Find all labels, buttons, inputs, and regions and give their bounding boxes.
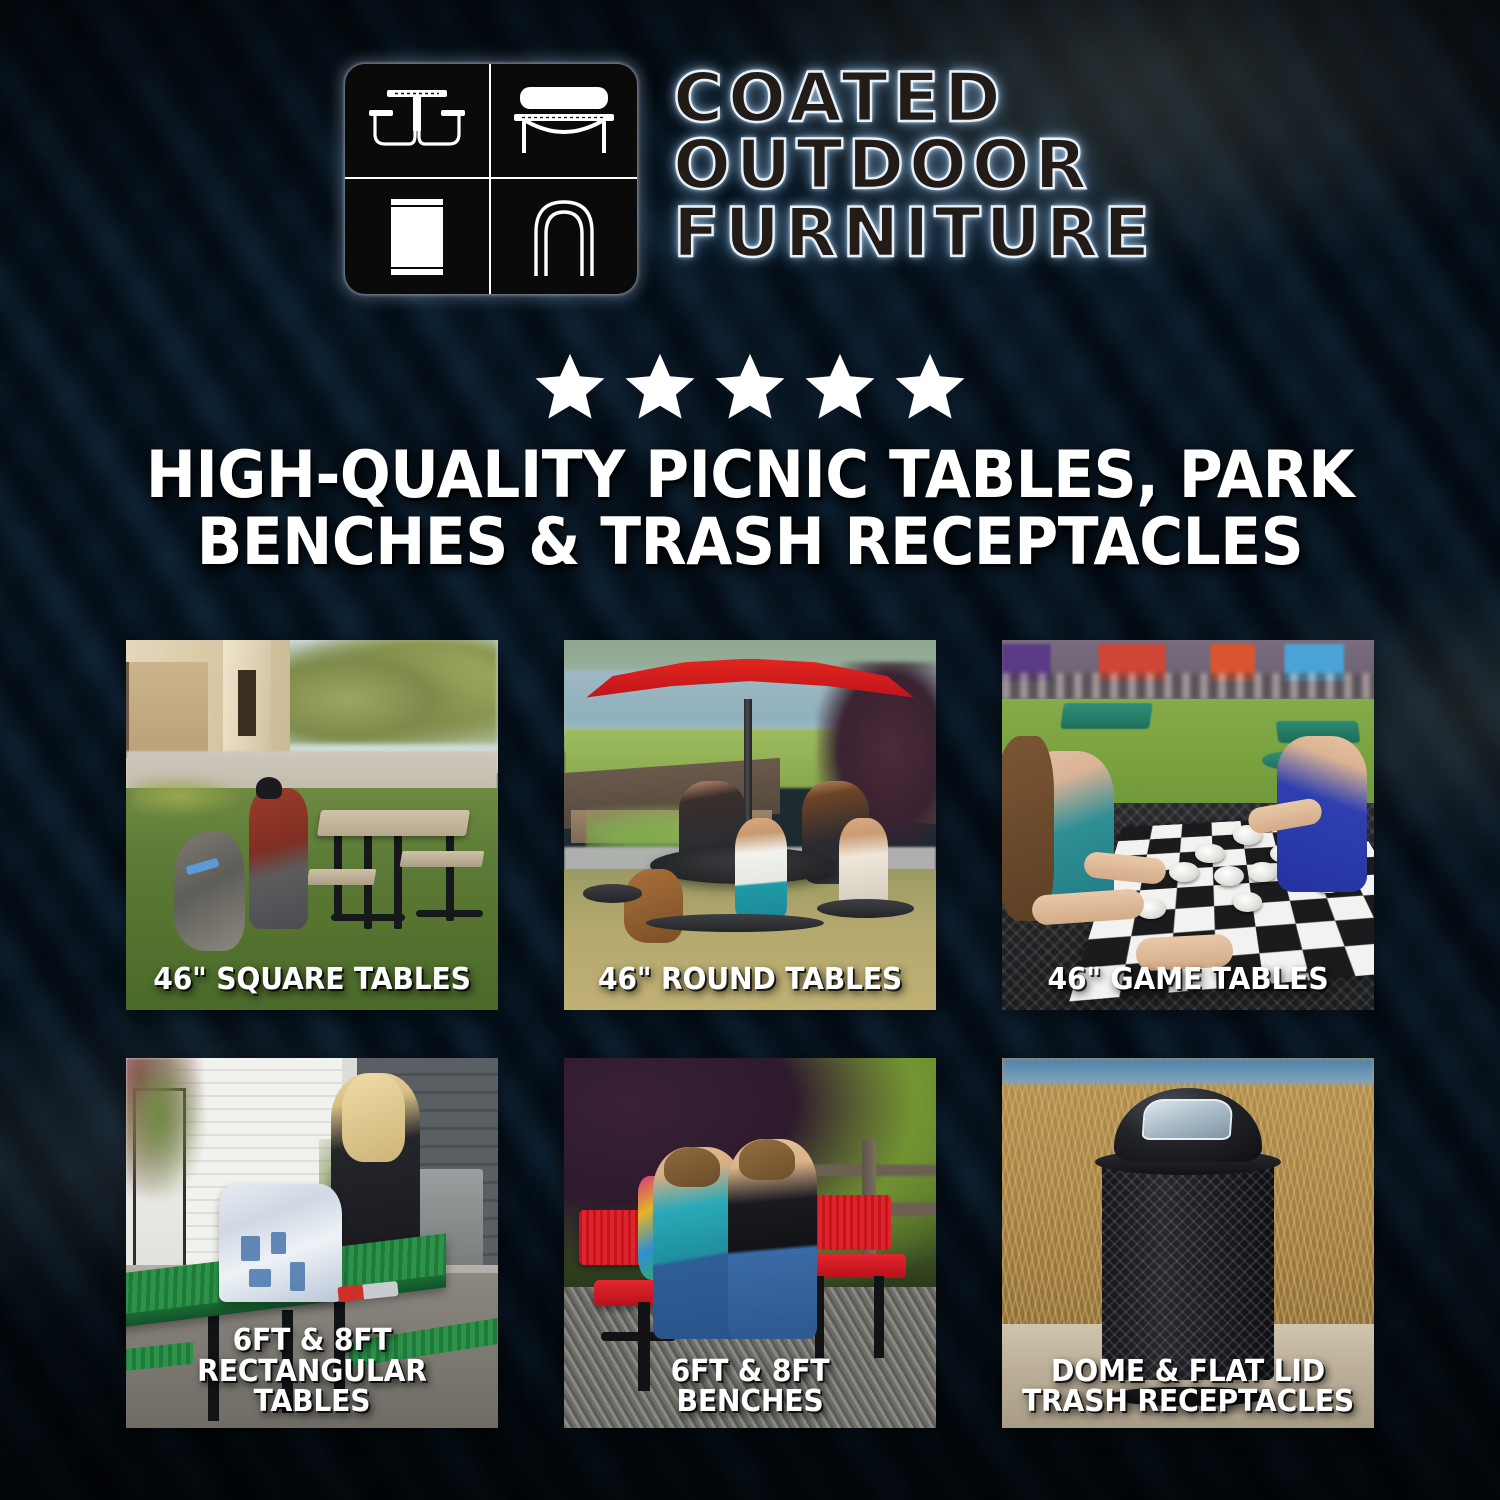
product-tile-rectangular-tables[interactable]: 6FT & 8FT RECTANGULAR TABLES (126, 1058, 498, 1428)
product-grid: 46" SQUARE TABLES (126, 640, 1374, 1428)
square-tables-photo (126, 640, 498, 1010)
benches-photo (564, 1058, 936, 1428)
headline-line-1: HIGH-QUALITY PICNIC TABLES, PARK (146, 438, 1354, 513)
trash-receptacle-icon (345, 179, 491, 294)
headline: HIGH-QUALITY PICNIC TABLES, PARK BENCHES… (124, 443, 1375, 577)
star-icon (534, 352, 606, 421)
trash-receptacles-photo (1002, 1058, 1374, 1428)
brand-logo: COATED OUTDOOR FURNITURE (0, 64, 1500, 294)
logo-mark (345, 64, 637, 294)
product-tile-round-tables[interactable]: 46" ROUND TABLES (564, 640, 936, 1010)
product-tile-benches[interactable]: 6FT & 8FT BENCHES (564, 1058, 936, 1428)
star-icon (714, 352, 786, 421)
star-icon (894, 352, 966, 421)
promo-poster: COATED OUTDOOR FURNITURE HIGH-QUALITY PI… (0, 0, 1500, 1500)
brand-name-line-3: FURNITURE (673, 201, 1155, 266)
star-icon (624, 352, 696, 421)
brand-name-line-1: COATED (673, 66, 1155, 131)
product-tile-trash-receptacles[interactable]: DOME & FLAT LID TRASH RECEPTACLES (1002, 1058, 1374, 1428)
brand-wordmark: COATED OUTDOOR FURNITURE (673, 64, 1155, 266)
game-tables-photo (1002, 640, 1374, 1010)
bike-rack-icon (491, 179, 637, 294)
brand-name-line-2: OUTDOOR (673, 133, 1155, 198)
star-rating (0, 352, 1500, 421)
headline-line-2: BENCHES & TRASH RECEPTACLES (124, 510, 1375, 577)
star-icon (804, 352, 876, 421)
picnic-table-icon (345, 64, 491, 179)
product-tile-square-tables[interactable]: 46" SQUARE TABLES (126, 640, 498, 1010)
rectangular-tables-photo (126, 1058, 498, 1428)
product-tile-game-tables[interactable]: 46" GAME TABLES (1002, 640, 1374, 1010)
round-tables-photo (564, 640, 936, 1010)
mesh-trash-can-body (1102, 1158, 1273, 1380)
bench-icon (491, 64, 637, 179)
